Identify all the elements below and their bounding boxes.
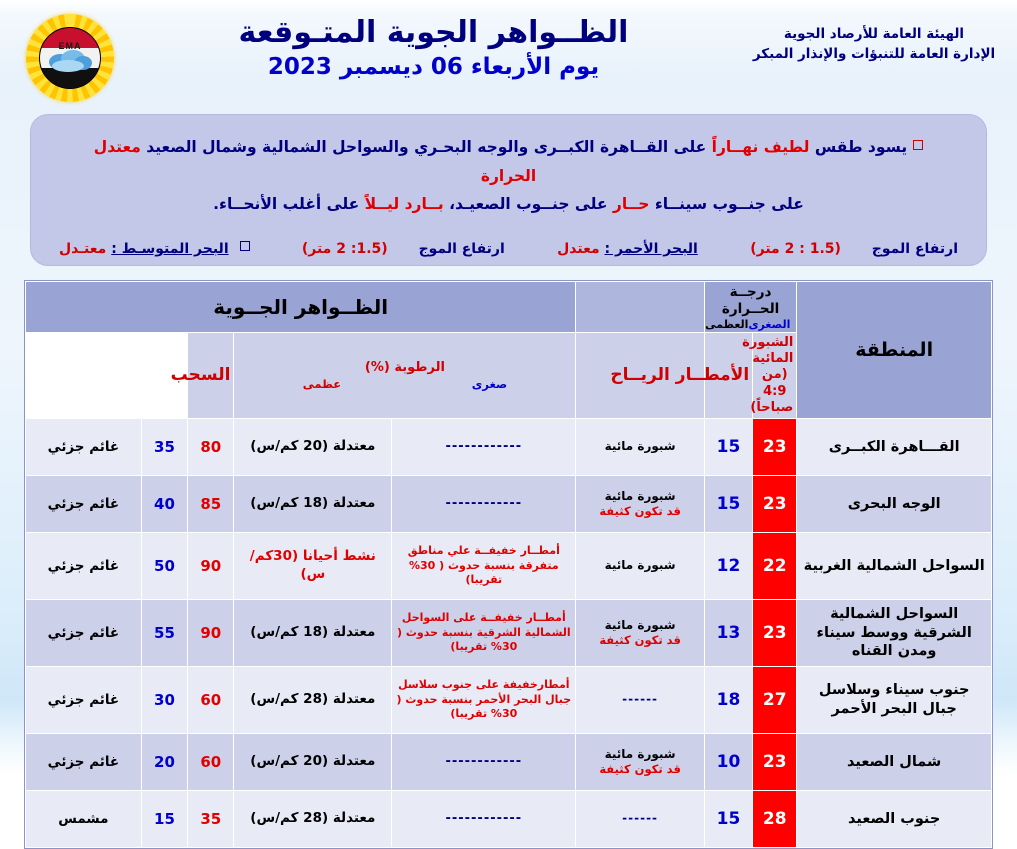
cell-wind: معتدلة (20 كم/س) [234,419,392,476]
table-row: السواحل الشمالية الغربية2212شبورة مائيةأ… [26,533,992,600]
cell-rain: ------------ [392,419,576,476]
summary-l1-s2: لطيف نهــاراً [712,138,810,156]
cell-region: السواحل الشمالية الشرقية ووسط سيناء ومدن… [797,600,992,667]
cell-wind: معتدلة (20 كم/س) [234,734,392,791]
cell-region: السواحل الشمالية الغربية [797,533,992,600]
table-row: جنوب الصعيد2815------------------معتدلة … [26,791,992,848]
summary-l2-s2: حــار [613,195,650,213]
summary-l2-s4: بــارد ليــلاً [365,195,444,213]
cell-clouds: غائم جزئي [26,667,142,734]
table-row: الوجه البحرى2315شبورة مائيةقد تكون كثيفة… [26,476,992,533]
cell-humidity-max: 90 [188,533,234,600]
cell-humidity-max: 85 [188,476,234,533]
cell-temp-max: 23 [753,734,797,791]
cell-fog: شبورة مائية [576,533,704,600]
header-humidity-min: صغرى [472,377,507,391]
cell-humidity-max: 60 [188,667,234,734]
cell-humidity-min: 35 [141,419,187,476]
cell-rain: ------------ [392,476,576,533]
cell-fog: ------ [576,667,704,734]
summary-l1-s3: على القــاهرة الكبــرى والوجه البحـري وا… [146,138,706,156]
cell-clouds: غائم جزئي [26,734,142,791]
red-sea-label: البحر الأحمر : [605,241,698,257]
cell-humidity-max: 90 [188,600,234,667]
cell-clouds: غائم جزئي [26,533,142,600]
cell-humidity-min: 50 [141,533,187,600]
forecast-date: يوم الأربعاء 06 ديسمبر 2023 [118,53,749,83]
table-row: شمال الصعيد2310شبورة مائيةقد تكون كثيفة-… [26,734,992,791]
cell-temp-max: 28 [753,791,797,848]
ema-logo: EMA [22,12,118,104]
cell-clouds: غائم جزئي [26,476,142,533]
header-fog: الشبورة المائية (من 4:9 صباحاً) [753,332,797,418]
cell-temp-max: 23 [753,419,797,476]
forecast-table-body: القـــاهرة الكبــرى2315شبورة مائية------… [26,419,992,848]
cloud-icon [46,50,94,72]
header-humidity-label: الرطوبة (%) [365,360,445,375]
cell-humidity-max: 60 [188,734,234,791]
header-phenomena-group: الظــواهر الجــوية [26,282,576,333]
header-humidity-sub: صغرى عظمى [237,377,572,391]
cell-temp-min: 15 [704,476,752,533]
cell-wind: معتدلة (28 كم/س) [234,791,392,848]
red-sea-state: معتدل [557,241,600,257]
cell-temp-max: 22 [753,533,797,600]
table-row: السواحل الشمالية الشرقية ووسط سيناء ومدن… [26,600,992,667]
cell-wind: معتدلة (18 كم/س) [234,600,392,667]
header-region: المنطقة [797,282,992,419]
cell-temp-max: 27 [753,667,797,734]
organization-block: الهيئة العامة للأرصاد الجوية الإدارة الع… [749,6,999,65]
med-sea-wave-block: ارتفاع الموج (1.5: 2 متر) [302,241,505,257]
title-block: الظــواهر الجوية المتـوقعة يوم الأربعاء … [118,6,749,82]
logo-emblem: EMA [39,27,101,89]
cell-clouds: غائم جزئي [26,600,142,667]
cell-humidity-min: 55 [141,600,187,667]
cell-temp-min: 15 [704,419,752,476]
page-header: الهيئة العامة للأرصاد الجوية الإدارة الع… [0,0,1017,112]
header-temp-max: العظمى [705,318,748,331]
cell-wind: نشط أحيانا (30كم/س) [234,533,392,600]
table-row: القـــاهرة الكبــرى2315شبورة مائية------… [26,419,992,476]
header-humidity-max: عظمى [303,377,341,391]
med-sea-label-block: البحر المتوسـط : معتـدل [59,241,249,257]
summary-panel: يسود طقس لطيف نهــاراً على القــاهرة الك… [30,114,987,266]
cell-region: جنوب سيناء وسلاسل جبال البحر الأحمر [797,667,992,734]
table-row: جنوب سيناء وسلاسل جبال البحر الأحمر2718-… [26,667,992,734]
cell-humidity-max: 80 [188,419,234,476]
header-temp-min: الصغرى [748,318,790,331]
cell-humidity-min: 30 [141,667,187,734]
header-temperature-sub: الصغرى العظمى [705,318,797,332]
cell-region: القـــاهرة الكبــرى [797,419,992,476]
cell-rain: أمطارخفيفة على جنوب سلاسل جبال البحر الأ… [392,667,576,734]
header-humidity: الرطوبة (%) صغرى عظمى [234,332,576,418]
cell-fog: ------ [576,791,704,848]
cell-temp-min: 15 [704,791,752,848]
summary-l1-s1: يسود طقس [815,138,907,156]
cell-fog: شبورة مائية [576,419,704,476]
cell-fog: شبورة مائيةقد تكون كثيفة [576,734,704,791]
header-clouds: السحب [188,332,234,418]
bullet-square-icon-sea [240,241,250,251]
summary-l2-s5: على أغلب الأنحــاء. [213,195,359,213]
cell-region: شمال الصعيد [797,734,992,791]
organization-name: الهيئة العامة للأرصاد الجوية [749,24,999,44]
department-name: الإدارة العامة للتنبؤات والإنذار المبكر [749,44,999,64]
cell-rain: ------------ [392,791,576,848]
cell-temp-min: 18 [704,667,752,734]
bullet-square-icon [913,140,923,150]
cell-temp-min: 12 [704,533,752,600]
summary-paragraph: يسود طقس لطيف نهــاراً على القــاهرة الك… [53,133,964,219]
cell-region: الوجه البحرى [797,476,992,533]
cell-temp-min: 10 [704,734,752,791]
cell-rain: ------------ [392,734,576,791]
med-sea-state: معتـدل [59,241,106,257]
cell-temp-max: 23 [753,600,797,667]
cell-rain: أمطــار خفيفــة علي مناطق متفرقة بنسبة ح… [392,533,576,600]
header-temperature-label: درجــة الحــرارة [705,282,797,318]
sea-conditions-row: ارتفاع الموج (1.5 : 2 متر) البحر الأحمر … [53,241,964,257]
red-sea-wave-label: ارتفاع الموج [872,241,958,257]
cell-region: جنوب الصعيد [797,791,992,848]
header-spacer [576,282,704,333]
cell-fog: شبورة مائيةقد تكون كثيفة [576,600,704,667]
cell-temp-min: 13 [704,600,752,667]
summary-l2-s1: على جنــوب سينــاء [655,195,804,213]
header-temperature: درجــة الحــرارة الصغرى العظمى [704,282,797,333]
med-sea-wave-value: (1.5: 2 متر) [302,241,388,257]
cell-clouds: غائم جزئي [26,419,142,476]
red-sea-wave-value: (1.5 : 2 متر) [750,241,841,257]
cell-clouds: مشمس [26,791,142,848]
cell-fog: شبورة مائيةقد تكون كثيفة [576,476,704,533]
header-fog-line2: (من 4:9 صباحاً) [750,367,793,415]
forecast-table-wrapper: المنطقة درجــة الحــرارة الصغرى العظمى ا… [24,280,993,849]
med-sea-wave-label: ارتفاع الموج [419,241,505,257]
cell-wind: معتدلة (28 كم/س) [234,667,392,734]
med-sea-label: البحر المتوسـط : [111,241,228,257]
cell-wind: معتدلة (18 كم/س) [234,476,392,533]
cell-humidity-min: 20 [141,734,187,791]
table-header-top: المنطقة درجــة الحــرارة الصغرى العظمى ا… [26,282,992,333]
cell-temp-max: 23 [753,476,797,533]
red-sea-label-block: البحر الأحمر : معتدل [557,241,698,257]
cell-humidity-min: 15 [141,791,187,848]
red-sea-block: ارتفاع الموج (1.5 : 2 متر) [750,241,958,257]
summary-l2-s3: على جنــوب الصعيـد، [449,195,607,213]
forecast-page: الهيئة العامة للأرصاد الجوية الإدارة الع… [0,0,1017,777]
cell-humidity-max: 35 [188,791,234,848]
forecast-table: المنطقة درجــة الحــرارة الصغرى العظمى ا… [25,281,992,848]
cell-humidity-min: 40 [141,476,187,533]
page-title: الظــواهر الجوية المتـوقعة [118,16,749,51]
cell-rain: أمطــار خفيفــة على السواحل الشمالية الش… [392,600,576,667]
